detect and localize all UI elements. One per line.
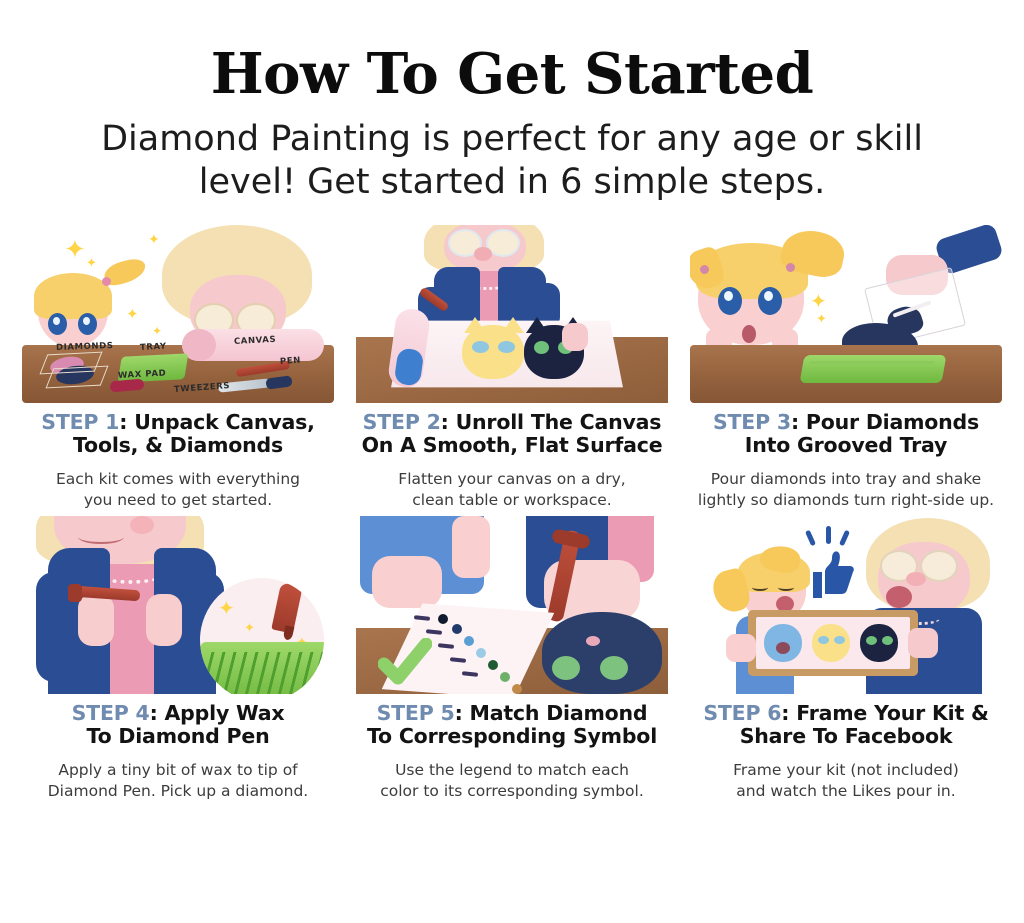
step-6-separator: : [781,701,789,725]
step-card-2: STEP 2: Unroll The Canvas On A Smooth, F… [348,225,676,510]
step-3-desc-line-1: Pour diamonds into tray and shake [686,469,1006,489]
step-4-desc-line-2: Diamond Pen. Pick up a diamond. [18,781,338,801]
step-3-title-line-2: Into Grooved Tray [745,433,947,457]
black-cat-canvas [542,612,662,694]
step-5-number: STEP 5 [377,701,455,725]
frame-and-share-illustration [690,516,1002,694]
step-4-desc-line-1: Apply a tiny bit of wax to tip of [18,760,338,780]
step-4-illustration-wrap: ✦ ✦ ✦ [22,516,334,694]
step-2-illustration-wrap [356,225,668,403]
step-1-description: Each kit comes with everything you need … [18,469,338,510]
steps-grid: ✦ ✦ ✦ ✦ ✦ [0,225,1024,801]
grandma-hand [562,323,588,351]
grandma-hand-right [146,594,182,646]
step-6-title-line-1: Frame Your Kit & [796,701,988,725]
sparkle-icon: ✦ [86,257,97,270]
girl-hand [726,634,756,662]
step-5-desc-line-2: color to its corresponding symbol. [352,781,672,801]
step-5-description: Use the legend to match each color to it… [352,760,672,801]
step-3-description: Pour diamonds into tray and shake lightl… [686,469,1006,510]
black-cat-face [860,624,898,662]
step-1-desc-line-1: Each kit comes with everything [18,469,338,489]
yellow-cat-head [462,325,524,379]
thumbs-up-spark [839,530,850,547]
step-4-description: Apply a tiny bit of wax to tip of Diamon… [18,760,338,801]
step-card-6: STEP 6: Frame Your Kit & Share To Facebo… [682,516,1010,801]
step-2-title: STEP 2: Unroll The Canvas On A Smooth, F… [352,411,672,457]
page-title: How To Get Started [0,46,1024,102]
step-1-number: STEP 1 [41,410,119,434]
step-card-5: STEP 5: Match Diamond To Corresponding S… [348,516,676,801]
grandma-hand-left [78,594,114,646]
pour-diamonds-illustration: ✦ ✦ [690,225,1002,403]
step-2-number: STEP 2 [363,410,441,434]
step-2-title-line-2: On A Smooth, Flat Surface [362,433,663,457]
step-2-separator: : [441,410,449,434]
sparkle-icon: ✦ [810,291,827,311]
step-1-title-line-1: Unpack Canvas, [134,410,315,434]
step-6-description: Frame your kit (not included) and watch … [686,760,1006,801]
thumbs-up-spark [805,530,816,547]
header: How To Get Started Diamond Painting is p… [0,0,1024,203]
yellow-cat-ear-left [464,317,486,333]
apply-wax-illustration: ✦ ✦ ✦ [22,516,334,694]
step-4-title-line-1: Apply Wax [165,701,285,725]
subtitle-line-1: Diamond Painting is perfect for any age … [72,118,952,161]
step-4-number: STEP 4 [72,701,150,725]
page-subtitle: Diamond Painting is perfect for any age … [72,118,952,203]
step-3-separator: : [791,410,799,434]
step-6-illustration-wrap [690,516,1002,694]
step-1-title: STEP 1: Unpack Canvas, Tools, & Diamonds [18,411,338,457]
step-6-desc-line-2: and watch the Likes pour in. [686,781,1006,801]
step-2-description: Flatten your canvas on a dry, clean tabl… [352,469,672,510]
girl-hair [34,273,112,319]
step-3-illustration-wrap: ✦ ✦ [690,225,1002,403]
step-2-title-line-1: Unroll The Canvas [456,410,662,434]
sparkle-icon: ✦ [64,237,86,263]
step-3-desc-line-2: lightly so diamonds turn right-side up. [686,490,1006,510]
step-5-title-line-2: To Corresponding Symbol [367,724,657,748]
step-2-desc-line-2: clean table or workspace. [352,490,672,510]
step-4-title-line-2: To Diamond Pen [87,724,270,748]
inset-tray-grooves [201,652,324,694]
step-3-title-line-1: Pour Diamonds [806,410,979,434]
sparkle-icon: ✦ [816,313,827,326]
black-cat-ear-left [526,317,548,333]
facebook-thumbs-up-icon [808,546,854,604]
step-5-illustration-wrap [356,516,668,694]
inset-closeup-circle: ✦ ✦ ✦ [200,578,324,694]
child-arm [452,516,490,578]
step-5-separator: : [455,701,463,725]
sparkle-icon: ✦ [244,622,255,635]
thumbs-up-spark [826,526,831,544]
yellow-cat-face [812,624,850,662]
tray-groove [810,361,935,364]
checkmark-icon [378,638,432,686]
child-hand-left [372,556,442,608]
step-1-title-line-2: Tools, & Diamonds [73,433,283,457]
poster-page: How To Get Started Diamond Painting is p… [0,0,1024,923]
step-1-desc-line-2: you need to get started. [18,490,338,510]
unroll-canvas-illustration [356,225,668,403]
step-1-illustration-wrap: ✦ ✦ ✦ ✦ ✦ [22,225,334,403]
step-4-title: STEP 4: Apply Wax To Diamond Pen [18,702,338,748]
step-card-3: ✦ ✦ STEP 3: Pour Di [682,225,1010,510]
step-2-desc-line-1: Flatten your canvas on a dry, [352,469,672,489]
grooved-tray [800,355,947,383]
step-card-4: ✦ ✦ ✦ STEP 4: Apply Wax To Diamond Pen A… [14,516,342,801]
label-tray: TRAY [140,342,167,353]
step-5-desc-line-1: Use the legend to match each [352,760,672,780]
step-card-1: ✦ ✦ ✦ ✦ ✦ [14,225,342,510]
step-6-title-line-2: Share To Facebook [740,724,953,748]
step-5-title-line-1: Match Diamond [470,701,648,725]
step-3-title: STEP 3: Pour Diamonds Into Grooved Tray [686,411,1006,457]
subtitle-line-2: level! Get started in 6 simple steps. [72,161,952,204]
step-6-title: STEP 6: Frame Your Kit & Share To Facebo… [686,702,1006,748]
step-5-title: STEP 5: Match Diamond To Corresponding S… [352,702,672,748]
pen-tip [68,584,82,602]
sparkle-icon: ✦ [126,307,139,322]
step-3-number: STEP 3 [713,410,791,434]
inset-pen-tip [283,625,295,641]
step-4-separator: : [150,701,158,725]
sparkle-icon: ✦ [152,325,162,337]
unpack-supplies-illustration: ✦ ✦ ✦ ✦ ✦ [22,225,334,403]
grandma-hand [908,628,938,658]
sparkle-icon: ✦ [148,233,160,247]
diamond-bag-outline [45,366,108,389]
step-6-desc-line-1: Frame your kit (not included) [686,760,1006,780]
match-symbol-illustration [356,516,668,694]
label-pen: PEN [280,356,302,367]
yellow-cat-ear-right [502,317,524,333]
step-1-separator: : [119,410,127,434]
sparkle-icon: ✦ [218,598,235,618]
step-6-number: STEP 6 [703,701,781,725]
